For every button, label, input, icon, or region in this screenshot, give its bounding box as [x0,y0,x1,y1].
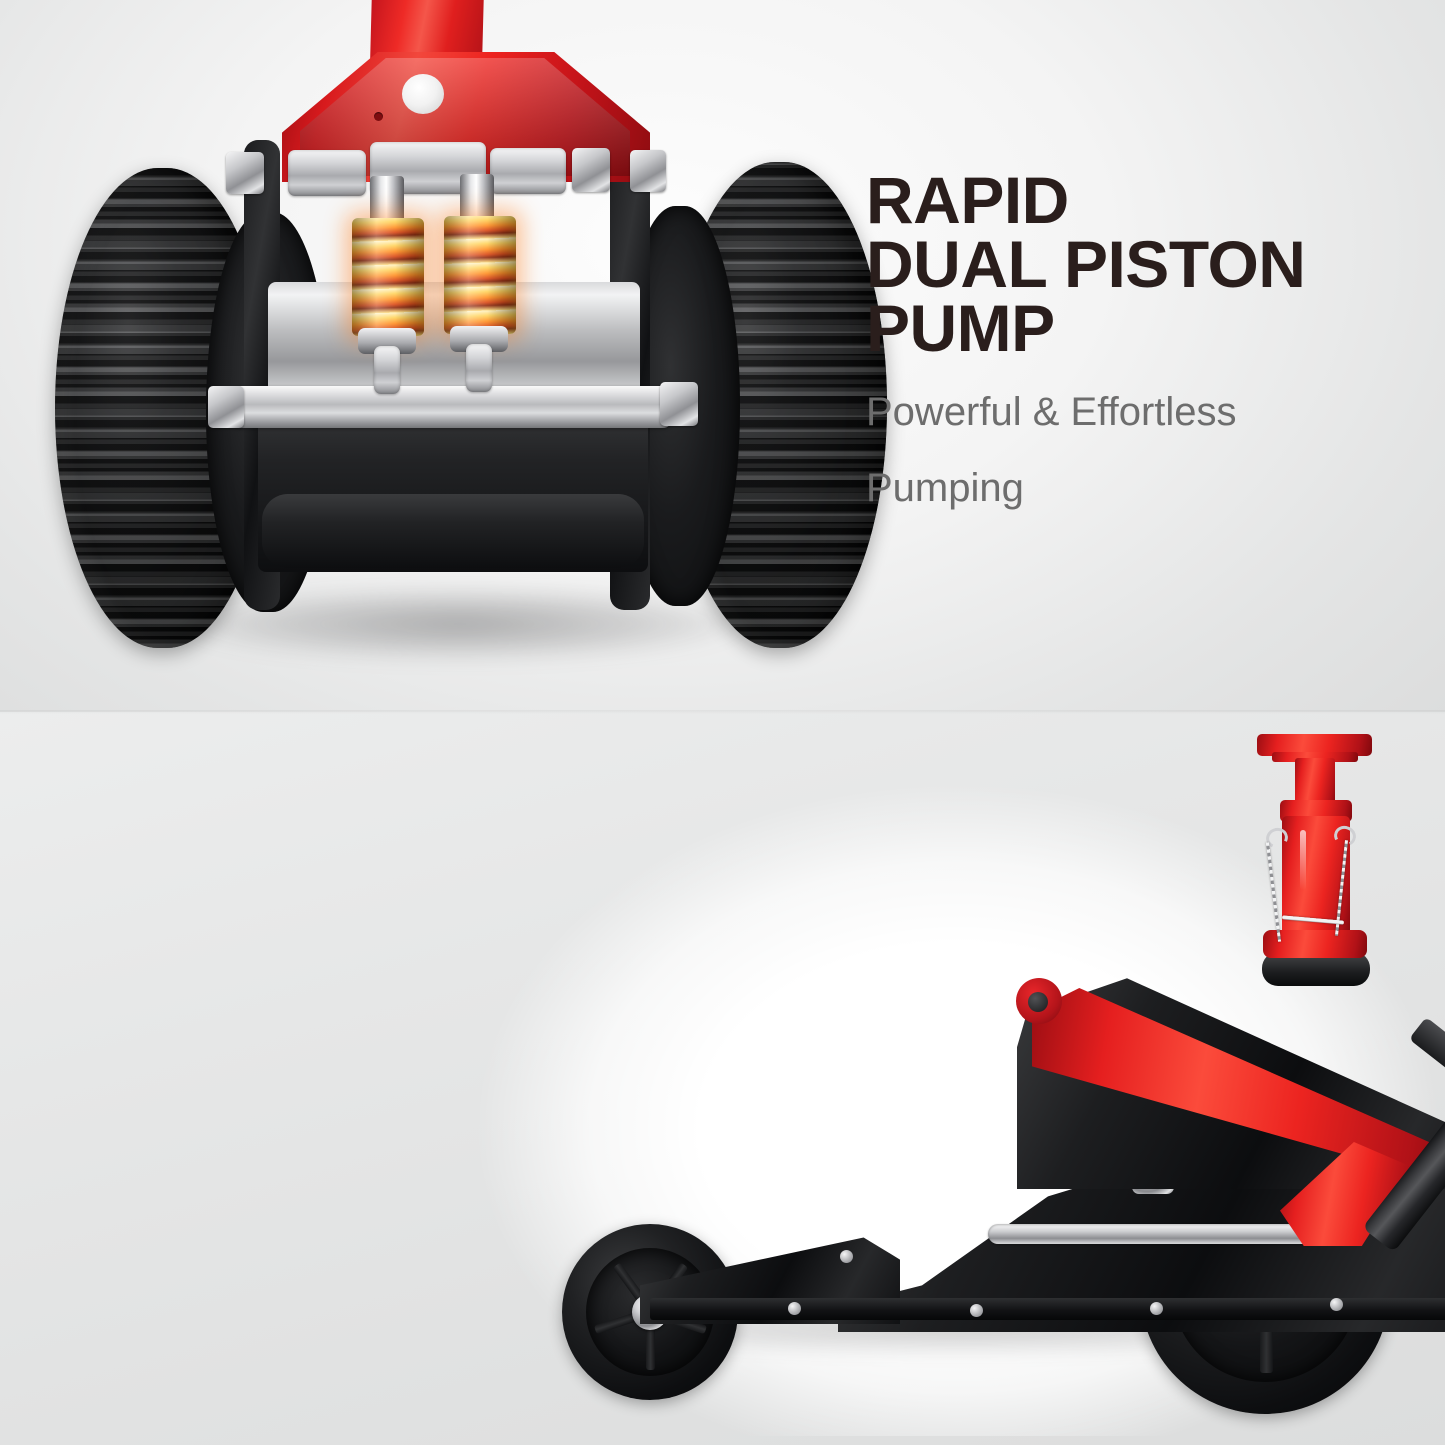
top-headline-line1: RAPID [866,168,1426,232]
lift-arm-hinge-pin [1028,992,1048,1012]
top-subtitle-line2: Pumping [866,464,1426,512]
axle-nut-right [660,382,698,426]
infographic-page: RAPID DUAL PISTON PUMP Powerful & Effort… [0,0,1445,1445]
piston-spring-left [352,218,424,336]
piston-shaft-left [374,346,400,394]
axle-nut-left [208,386,244,428]
jack-base-rail [650,1298,1445,1320]
top-headline-line2: DUAL PISTON [866,232,1426,296]
carriage-front-lip [262,494,644,568]
pivot-nut-left [226,152,264,194]
pivot-roller-right [490,148,566,194]
extension-adapter-highlight [1300,830,1306,890]
piston-spring-right [444,216,516,334]
panel-extension-adapter: 27.4 inch or 695 mm MAX Height (with ext… [0,712,1445,1445]
top-subtitle-line1: Powerful & Effortless [866,388,1426,436]
product-photo-dual-piston-front [0,0,860,712]
panel-rapid-dual-piston-pump: RAPID DUAL PISTON PUMP Powerful & Effort… [0,0,1445,712]
chrome-roller-bar [232,386,672,428]
chassis-rivet [970,1304,983,1317]
jack-head-pinhole-left [374,112,383,121]
product-photo-jack-profile [520,712,1445,1445]
jack-head-bore [402,74,444,114]
chassis-rivet [840,1250,853,1263]
chassis-rivet [1150,1302,1163,1315]
carry-slot-trim [988,1224,1318,1244]
pivot-nut-outer-right [630,150,666,192]
chassis-rivet [788,1302,801,1315]
chassis-rivet [1330,1298,1343,1311]
pivot-nut-right [572,148,610,192]
top-headline-line3: PUMP [866,296,1426,360]
adapter-safety-chain-left [1266,842,1281,942]
top-text-block: RAPID DUAL PISTON PUMP Powerful & Effort… [866,168,1426,512]
panel-divider [0,710,1445,714]
piston-shaft-right [466,344,492,392]
handle-telescope-joint [1409,1017,1445,1071]
pivot-roller-left [288,150,366,196]
